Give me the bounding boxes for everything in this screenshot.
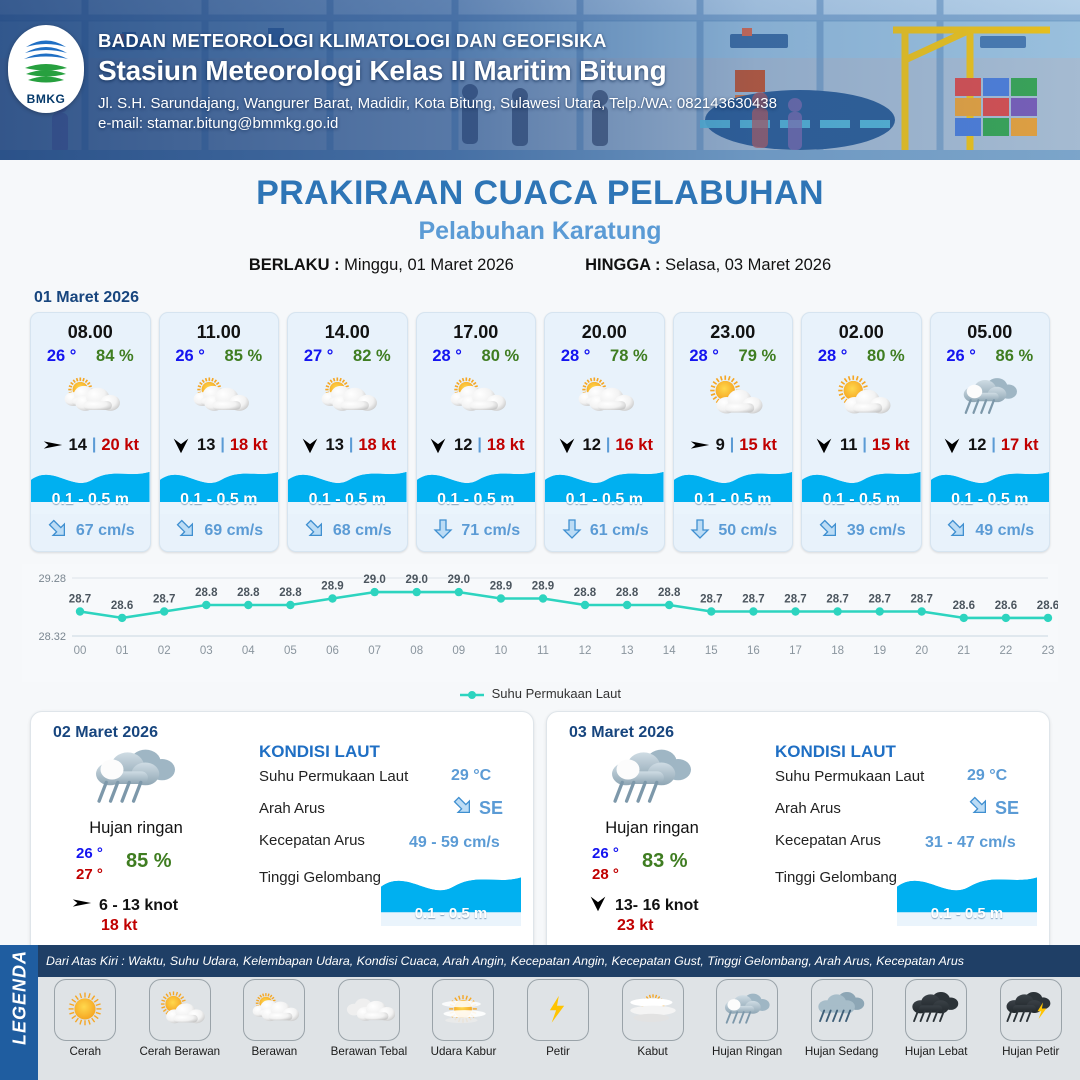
card-wind-row: 12 | 17 kt: [931, 430, 1050, 460]
current-speed: 61 cm/s: [590, 522, 649, 540]
weather-hujan-ringan-icon: [716, 979, 778, 1041]
weather-hujan-sedang-icon: [811, 979, 873, 1041]
svg-text:28.7: 28.7: [742, 594, 764, 606]
legend-item-label: Cerah: [69, 1045, 101, 1058]
card-temp-hum: 27 ° 82 %: [288, 343, 407, 366]
wave-height-band: 0.1 - 0.5 m: [160, 462, 279, 514]
hourly-card[interactable]: 02.00 28 ° 80 % 11 | 15 kt: [801, 312, 922, 552]
card-humidity: 79 %: [739, 347, 777, 366]
legend-item-label: Kabut: [637, 1045, 667, 1058]
svg-text:09: 09: [452, 645, 465, 657]
value-current-direction: SE: [479, 798, 503, 819]
value-current-speed: 31 - 47 cm/s: [925, 834, 1016, 852]
daily-condition: Hujan ringan: [567, 819, 737, 838]
weather-hujan-ringan-icon: [931, 368, 1050, 426]
label-wave-height: Tinggi Gelombang: [259, 869, 381, 886]
wind-gust: 16 kt: [615, 436, 653, 455]
svg-text:28.6: 28.6: [111, 600, 133, 612]
daily-forecast-panels: 02 Maret 2026 Hujan ringan 26 ° 27 ° 85 …: [0, 701, 1080, 956]
chart-legend-label: Suhu Permukaan Laut: [492, 686, 621, 701]
agency-name: BADAN METEOROLOGI KLIMATOLOGI DAN GEOFIS…: [98, 30, 777, 52]
wind-gust: 18 kt: [358, 436, 396, 455]
weather-cerah-berawan-icon: [674, 368, 793, 426]
hourly-date-label: 01 Maret 2026: [34, 289, 1080, 307]
svg-text:28.6: 28.6: [1037, 600, 1058, 612]
legend-item-label: Hujan Sedang: [805, 1045, 879, 1058]
card-time: 11.00: [160, 313, 279, 343]
current-speed: 50 cm/s: [718, 522, 777, 540]
svg-text:11: 11: [537, 645, 549, 657]
daily-condition: Hujan ringan: [51, 819, 221, 838]
weather-berawan-icon: [243, 979, 305, 1041]
wave-height-band: 0.1 - 0.5 m: [674, 462, 793, 514]
legend-item-label: Hujan Lebat: [905, 1045, 968, 1058]
current-speed: 67 cm/s: [76, 522, 135, 540]
svg-text:06: 06: [326, 645, 339, 657]
bmkg-emblem-icon: [19, 32, 73, 90]
card-temperature: 28 °: [561, 347, 591, 366]
legend-side-band: LEGENDA: [0, 945, 38, 1080]
value-current-direction: SE: [995, 798, 1019, 819]
legend-note-bar: Dari Atas Kiri : Waktu, Suhu Udara, Kele…: [38, 945, 1080, 977]
daily-wind-row: 6 - 13 knot: [71, 892, 178, 919]
svg-text:28.9: 28.9: [532, 581, 554, 593]
wave-height-band: 0.1 - 0.5 m: [288, 462, 407, 514]
station-email: e-mail: stamar.bitung@bmmkg.go.id: [98, 115, 777, 132]
card-current-row: 67 cm/s: [31, 514, 150, 548]
wind-speed: 11: [840, 436, 857, 455]
legend-item: Hujan Petir: [983, 979, 1078, 1058]
card-temp-hum: 26 ° 84 %: [31, 343, 150, 366]
svg-text:28.7: 28.7: [826, 594, 848, 606]
weather-berawan-icon: [417, 368, 536, 426]
station-address: Jl. S.H. Sarundajang, Wangurer Barat, Ma…: [98, 95, 777, 112]
svg-text:07: 07: [368, 645, 381, 657]
wave-height-value: 0.1 - 0.5 m: [288, 491, 407, 509]
chart-legend-marker-icon: [459, 689, 485, 701]
svg-text:16: 16: [747, 645, 760, 657]
current-speed: 68 cm/s: [333, 522, 392, 540]
label-current-speed: Kecepatan Arus: [775, 832, 881, 849]
svg-text:04: 04: [242, 645, 255, 657]
wave-height-value: 0.1 - 0.5 m: [160, 491, 279, 509]
wind-speed: 14: [69, 436, 87, 455]
svg-text:28.7: 28.7: [700, 594, 722, 606]
daily-wind-gust: 18 kt: [101, 917, 137, 935]
wind-direction-arrow-icon: [689, 434, 711, 456]
port-name: Pelabuhan Karatung: [0, 217, 1080, 246]
card-temperature: 28 °: [689, 347, 719, 366]
daily-temp-min: 26 °: [76, 845, 103, 862]
card-time: 08.00: [31, 313, 150, 343]
current-speed: 39 cm/s: [847, 522, 906, 540]
card-wind-row: 12 | 18 kt: [417, 430, 536, 460]
wind-speed: 12: [583, 436, 601, 455]
svg-text:18: 18: [831, 645, 844, 657]
current-direction-arrow-icon: [817, 517, 841, 546]
legend-item: Petir: [511, 979, 606, 1058]
daily-forecast-panel[interactable]: 02 Maret 2026 Hujan ringan 26 ° 27 ° 85 …: [30, 711, 534, 956]
daily-date: 02 Maret 2026: [53, 724, 158, 742]
berlaku-value: Minggu, 01 Maret 2026: [344, 256, 514, 274]
wind-speed: 9: [716, 436, 725, 455]
value-current-speed: 49 - 59 cm/s: [409, 834, 500, 852]
hourly-forecast-cards: 08.00 26 ° 84 % 14 |: [0, 312, 1080, 552]
wind-separator: |: [606, 436, 610, 454]
legend-item: Hujan Ringan: [700, 979, 795, 1058]
weather-berawan-icon: [545, 368, 664, 426]
validity-row: BERLAKU : Minggu, 01 Maret 2026 HINGGA :…: [0, 256, 1080, 275]
wave-height-band: 0.1 - 0.5 m: [545, 462, 664, 514]
current-direction-arrow-icon: [560, 517, 584, 546]
card-temp-hum: 28 ° 80 %: [802, 343, 921, 366]
legend-item-label: Cerah Berawan: [140, 1045, 221, 1058]
label-wave-height: Tinggi Gelombang: [775, 869, 897, 886]
current-direction-arrow-icon: [945, 517, 969, 546]
current-direction-arrow-icon: [303, 517, 327, 546]
hingga-value: Selasa, 03 Maret 2026: [665, 256, 831, 274]
weather-udara-kabur-icon: [432, 979, 494, 1041]
svg-text:28.7: 28.7: [69, 594, 91, 606]
svg-text:29.0: 29.0: [363, 574, 385, 586]
value-wave-height: 0.1 - 0.5 m: [897, 905, 1037, 922]
legend-item-label: Berawan Tebal: [331, 1045, 408, 1058]
svg-text:28.8: 28.8: [237, 587, 260, 599]
daily-wind-speed: 13- 16 knot: [615, 897, 699, 915]
wind-gust: 18 kt: [230, 436, 268, 455]
card-temp-hum: 28 ° 78 %: [545, 343, 664, 366]
legend-title: LEGENDA: [10, 938, 31, 1058]
wind-direction-arrow-icon: [170, 434, 192, 456]
hourly-card[interactable]: 17.00 28 ° 80 % 12 |: [416, 312, 537, 552]
legend-item: Berawan Tebal: [322, 979, 417, 1058]
wind-separator: |: [92, 436, 96, 454]
svg-text:28.6: 28.6: [953, 600, 975, 612]
card-time: 20.00: [545, 313, 664, 343]
svg-text:20: 20: [915, 645, 928, 657]
card-temperature: 28 °: [432, 347, 462, 366]
hingga-label: HINGGA :: [585, 256, 660, 274]
card-temperature: 26 °: [47, 347, 77, 366]
daily-forecast-panel[interactable]: 03 Maret 2026 Hujan ringan 26 ° 28 ° 83 …: [546, 711, 1050, 956]
weather-berawan-icon: [288, 368, 407, 426]
card-current-row: 71 cm/s: [417, 514, 536, 548]
value-sst: 29 °C: [451, 767, 491, 785]
daily-wind-gust: 23 kt: [617, 917, 653, 935]
svg-text:28.6: 28.6: [995, 600, 1017, 612]
label-current-direction: Arah Arus: [259, 800, 325, 817]
legend-item: Cerah Berawan: [133, 979, 228, 1058]
legend-item: Berawan: [227, 979, 322, 1058]
wave-height-value: 0.1 - 0.5 m: [417, 491, 536, 509]
card-wind-row: 14 | 20 kt: [31, 430, 150, 460]
header-text-block: BADAN METEOROLOGI KLIMATOLOGI DAN GEOFIS…: [98, 30, 777, 132]
wind-gust: 18 kt: [487, 436, 525, 455]
svg-text:28.8: 28.8: [279, 587, 302, 599]
card-time: 17.00: [417, 313, 536, 343]
wave-height-band: 0.1 - 0.5 m: [31, 462, 150, 514]
weather-petir-icon: [527, 979, 589, 1041]
current-speed: 71 cm/s: [461, 522, 520, 540]
card-temp-hum: 26 ° 85 %: [160, 343, 279, 366]
daily-humidity: 85 %: [126, 850, 172, 873]
svg-text:17: 17: [789, 645, 802, 657]
label-current-direction: Arah Arus: [775, 800, 841, 817]
hourly-card[interactable]: 23.00 28 ° 79 % 9 | 15 kt: [673, 312, 794, 552]
wave-height-value: 0.1 - 0.5 m: [931, 491, 1050, 509]
bmkg-logo: BMKG: [8, 25, 84, 113]
card-temperature: 26 °: [946, 347, 976, 366]
wind-gust: 15 kt: [872, 436, 910, 455]
legend-item-label: Berawan: [251, 1045, 297, 1058]
card-current-row: 61 cm/s: [545, 514, 664, 548]
current-direction-arrow-icon: [451, 794, 475, 823]
wind-separator: |: [730, 436, 734, 454]
card-temp-hum: 26 ° 86 %: [931, 343, 1050, 366]
legend-items: Cerah Cerah Berawan: [38, 979, 1078, 1058]
legend-item: Udara Kabur: [416, 979, 511, 1058]
wind-speed: 12: [968, 436, 986, 455]
legend-note: Dari Atas Kiri : Waktu, Suhu Udara, Kele…: [38, 954, 964, 968]
legend-section: LEGENDA Dari Atas Kiri : Waktu, Suhu Uda…: [0, 945, 1080, 1080]
weather-berawan-tebal-icon: [338, 979, 400, 1041]
svg-text:02: 02: [158, 645, 171, 657]
wind-separator: |: [477, 436, 481, 454]
current-speed: 69 cm/s: [204, 522, 263, 540]
value-current-direction-row: SE: [451, 794, 503, 823]
wind-direction-arrow-icon: [71, 892, 93, 919]
weather-hujan-ringan-icon: [89, 745, 181, 816]
wind-separator: |: [862, 436, 866, 454]
wind-separator: |: [220, 436, 224, 454]
sea-condition-title: KONDISI LAUT: [775, 742, 896, 762]
wind-speed: 13: [326, 436, 344, 455]
page-title: PRAKIRAAN CUACA PELABUHAN: [0, 174, 1080, 213]
svg-text:28.9: 28.9: [321, 581, 343, 593]
title-section: PRAKIRAAN CUACA PELABUHAN Pelabuhan Kara…: [0, 160, 1080, 275]
card-time: 02.00: [802, 313, 921, 343]
daily-temp-min: 26 °: [592, 845, 619, 862]
svg-text:21: 21: [957, 645, 970, 657]
svg-text:00: 00: [74, 645, 87, 657]
value-current-direction-row: SE: [967, 794, 1019, 823]
svg-text:19: 19: [873, 645, 886, 657]
card-temperature: 28 °: [818, 347, 848, 366]
hourly-card[interactable]: 20.00 28 ° 78 % 12 |: [544, 312, 665, 552]
daily-wind-row: 13- 16 knot: [587, 892, 699, 919]
hourly-card[interactable]: 11.00 26 ° 85 % 13 |: [159, 312, 280, 552]
chart-legend: Suhu Permukaan Laut: [0, 686, 1080, 701]
weather-hujan-petir-icon: [1000, 979, 1062, 1041]
svg-text:29.28: 29.28: [38, 573, 66, 585]
wave-height-value: 0.1 - 0.5 m: [802, 491, 921, 509]
svg-text:14: 14: [663, 645, 676, 657]
wind-direction-arrow-icon: [813, 434, 835, 456]
svg-text:08: 08: [410, 645, 423, 657]
weather-hujan-ringan-icon: [605, 745, 697, 816]
svg-text:28.8: 28.8: [658, 587, 681, 599]
card-humidity: 82 %: [353, 347, 391, 366]
legend-item: Hujan Sedang: [794, 979, 889, 1058]
svg-text:05: 05: [284, 645, 297, 657]
value-sst: 29 °C: [967, 767, 1007, 785]
bmkg-logo-text: BMKG: [27, 92, 66, 106]
legend-item-label: Hujan Ringan: [712, 1045, 782, 1058]
legend-item-label: Petir: [546, 1045, 570, 1058]
current-direction-arrow-icon: [431, 517, 455, 546]
legend-item-label: Udara Kabur: [431, 1045, 497, 1058]
wind-direction-arrow-icon: [556, 434, 578, 456]
wind-direction-arrow-icon: [587, 892, 609, 919]
wave-height-band: 0.1 - 0.5 m: [802, 462, 921, 514]
card-humidity: 80 %: [867, 347, 905, 366]
daily-wave-band: 0.1 - 0.5 m: [381, 866, 521, 926]
svg-text:28.32: 28.32: [38, 631, 66, 643]
wind-direction-arrow-icon: [941, 434, 963, 456]
weather-cerah-icon: [54, 979, 116, 1041]
card-current-row: 68 cm/s: [288, 514, 407, 548]
card-wind-row: 9 | 15 kt: [674, 430, 793, 460]
wind-gust: 15 kt: [739, 436, 777, 455]
card-wind-row: 13 | 18 kt: [160, 430, 279, 460]
card-temp-hum: 28 ° 79 %: [674, 343, 793, 366]
svg-text:28.7: 28.7: [153, 594, 175, 606]
wave-height-value: 0.1 - 0.5 m: [31, 491, 150, 509]
wave-height-band: 0.1 - 0.5 m: [931, 462, 1050, 514]
daily-temp-max: 27 °: [76, 866, 103, 883]
svg-text:15: 15: [705, 645, 718, 657]
svg-text:28.7: 28.7: [869, 594, 891, 606]
weather-hujan-lebat-icon: [905, 979, 967, 1041]
wind-separator: |: [349, 436, 353, 454]
svg-text:28.8: 28.8: [195, 587, 218, 599]
weather-cerah-berawan-icon: [802, 368, 921, 426]
svg-text:10: 10: [495, 645, 508, 657]
svg-text:23: 23: [1042, 645, 1055, 657]
daily-wind-speed: 6 - 13 knot: [99, 897, 178, 915]
current-direction-arrow-icon: [967, 794, 991, 823]
svg-text:28.8: 28.8: [616, 587, 639, 599]
wind-direction-arrow-icon: [299, 434, 321, 456]
daily-humidity: 83 %: [642, 850, 688, 873]
wind-direction-arrow-icon: [42, 434, 64, 456]
weather-cerah-berawan-icon: [149, 979, 211, 1041]
svg-text:12: 12: [579, 645, 592, 657]
card-temperature: 26 °: [175, 347, 205, 366]
legend-item-label: Hujan Petir: [1002, 1045, 1059, 1058]
card-humidity: 78 %: [610, 347, 648, 366]
wind-gust: 20 kt: [101, 436, 139, 455]
current-direction-arrow-icon: [174, 517, 198, 546]
daily-wave-band: 0.1 - 0.5 m: [897, 866, 1037, 926]
svg-text:13: 13: [621, 645, 634, 657]
wind-speed: 13: [197, 436, 215, 455]
wind-speed: 12: [454, 436, 472, 455]
card-humidity: 86 %: [996, 347, 1034, 366]
wave-height-band: 0.1 - 0.5 m: [417, 462, 536, 514]
page-header: BMKG BADAN METEOROLOGI KLIMATOLOGI DAN G…: [0, 0, 1080, 160]
svg-text:29.0: 29.0: [406, 574, 428, 586]
svg-text:03: 03: [200, 645, 213, 657]
label-sst: Suhu Permukaan Laut: [775, 768, 924, 785]
card-temp-hum: 28 ° 80 %: [417, 343, 536, 366]
card-wind-row: 12 | 16 kt: [545, 430, 664, 460]
svg-text:29.0: 29.0: [448, 574, 470, 586]
weather-berawan-icon: [31, 368, 150, 426]
svg-text:28.7: 28.7: [911, 594, 933, 606]
legend-item: Kabut: [605, 979, 700, 1058]
wave-height-value: 0.1 - 0.5 m: [674, 491, 793, 509]
berlaku-label: BERLAKU :: [249, 256, 340, 274]
svg-text:28.7: 28.7: [784, 594, 806, 606]
station-name: Stasiun Meteorologi Kelas II Maritim Bit…: [98, 55, 777, 87]
card-current-row: 49 cm/s: [931, 514, 1050, 548]
card-wind-row: 13 | 18 kt: [288, 430, 407, 460]
svg-text:28.8: 28.8: [574, 587, 597, 599]
hourly-card[interactable]: 14.00 27 ° 82 % 13 |: [287, 312, 408, 552]
label-current-speed: Kecepatan Arus: [259, 832, 365, 849]
card-current-row: 39 cm/s: [802, 514, 921, 548]
wind-gust: 17 kt: [1001, 436, 1039, 455]
value-wave-height: 0.1 - 0.5 m: [381, 905, 521, 922]
wind-direction-arrow-icon: [427, 434, 449, 456]
hourly-card[interactable]: 08.00 26 ° 84 % 14 |: [30, 312, 151, 552]
hourly-card[interactable]: 05.00 26 ° 86 % 12 |: [930, 312, 1051, 552]
card-wind-row: 11 | 15 kt: [802, 430, 921, 460]
card-current-row: 69 cm/s: [160, 514, 279, 548]
card-time: 14.00: [288, 313, 407, 343]
sea-condition-title: KONDISI LAUT: [259, 742, 380, 762]
legend-item: Hujan Lebat: [889, 979, 984, 1058]
card-temperature: 27 °: [304, 347, 334, 366]
sst-chart: 29.2828.3228.70028.60128.70228.80328.804…: [22, 564, 1058, 682]
card-humidity: 80 %: [482, 347, 520, 366]
weather-kabut-icon: [622, 979, 684, 1041]
current-direction-arrow-icon: [688, 517, 712, 546]
current-direction-arrow-icon: [46, 517, 70, 546]
legend-item: Cerah: [38, 979, 133, 1058]
daily-date: 03 Maret 2026: [569, 724, 674, 742]
card-time: 05.00: [931, 313, 1050, 343]
wind-separator: |: [991, 436, 995, 454]
daily-temp-max: 28 °: [592, 866, 619, 883]
svg-text:22: 22: [1000, 645, 1013, 657]
wave-height-value: 0.1 - 0.5 m: [545, 491, 664, 509]
svg-text:28.9: 28.9: [490, 581, 512, 593]
current-speed: 49 cm/s: [975, 522, 1034, 540]
weather-berawan-icon: [160, 368, 279, 426]
card-current-row: 50 cm/s: [674, 514, 793, 548]
card-humidity: 85 %: [225, 347, 263, 366]
label-sst: Suhu Permukaan Laut: [259, 768, 408, 785]
svg-text:01: 01: [116, 645, 129, 657]
card-humidity: 84 %: [96, 347, 134, 366]
card-time: 23.00: [674, 313, 793, 343]
